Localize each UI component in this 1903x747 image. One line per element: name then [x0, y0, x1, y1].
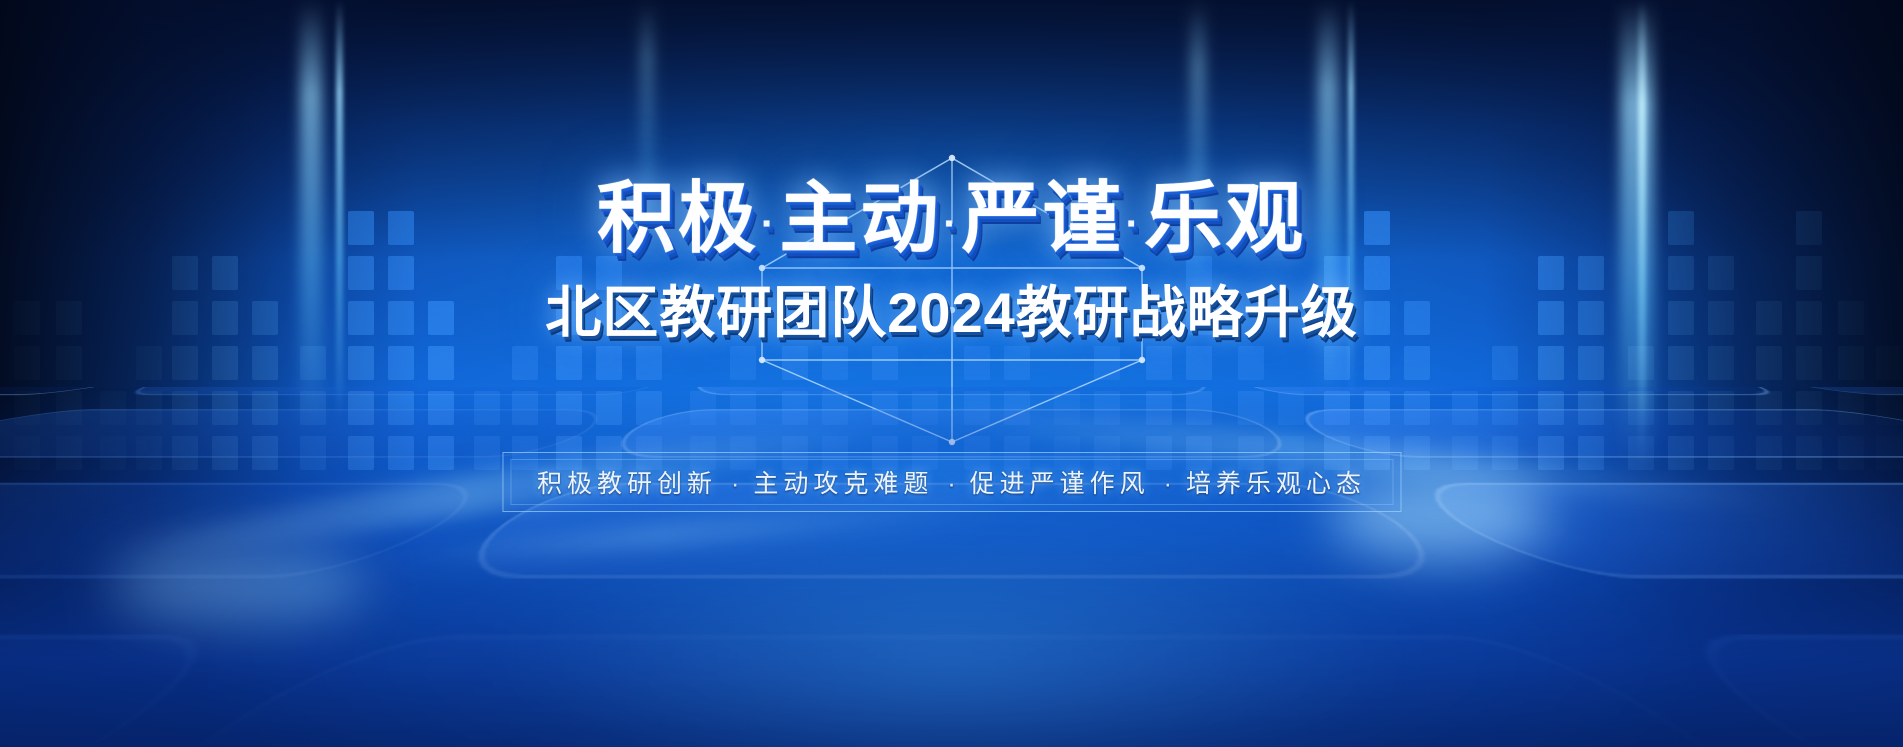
skyline-block	[136, 391, 162, 425]
left-edge-shade	[0, 0, 420, 747]
title-separator-1: ·	[761, 202, 777, 246]
skyline-block	[1492, 391, 1518, 425]
skyline-block	[172, 436, 198, 470]
skyline-block	[1238, 391, 1264, 425]
skyline-column	[100, 391, 126, 470]
tagline-frame: 积极教研创新·主动攻克难题·促进严谨作风·培养乐观心态	[502, 452, 1401, 512]
title-separator-2: ·	[943, 202, 959, 246]
title-word-3: 严谨	[962, 174, 1124, 262]
skyline-block	[872, 391, 898, 425]
skyline-block	[212, 346, 238, 380]
skyline-block	[1668, 436, 1694, 470]
skyline-block	[964, 346, 990, 380]
right-edge-shade	[1483, 0, 1903, 747]
skyline-block	[730, 346, 756, 380]
page-title: 积极·主动·严谨·乐观	[597, 176, 1306, 260]
perspective-tile-floor	[0, 387, 1903, 747]
tagline-item-4: 培养乐观心态	[1186, 470, 1366, 498]
skyline-block	[1004, 391, 1030, 425]
floor-tile	[101, 387, 689, 394]
skyline-block	[1628, 346, 1654, 380]
skyline-column	[1628, 346, 1654, 470]
tagline-item-3: 促进严谨作风	[970, 470, 1150, 498]
skyline-block	[1094, 391, 1120, 425]
skyline-block	[822, 391, 848, 425]
skyline-block	[1186, 391, 1212, 425]
skyline-block	[1278, 391, 1304, 425]
skyline-block	[252, 346, 278, 380]
skyline-block	[1324, 391, 1350, 425]
skyline-block	[428, 346, 454, 380]
skyline-block	[348, 391, 374, 425]
skyline-column	[474, 391, 500, 470]
skyline-block	[1796, 346, 1822, 380]
skyline-block	[1796, 391, 1822, 425]
skyline-block	[1492, 346, 1518, 380]
floor-tile	[0, 408, 622, 457]
glow-spot-left	[110, 545, 370, 625]
skyline-block	[1838, 346, 1864, 380]
skyline-block	[1838, 436, 1864, 470]
skyline-block	[1452, 391, 1478, 425]
skyline-column	[300, 346, 326, 470]
skyline-block	[1876, 436, 1902, 470]
tagline-item-2: 主动攻克难题	[753, 470, 933, 498]
skyline-block	[556, 391, 582, 425]
skyline-block	[1756, 391, 1782, 425]
skyline-block	[300, 391, 326, 425]
skyline-block	[252, 436, 278, 470]
skyline-column	[1492, 346, 1518, 470]
tagline-item-1: 积极教研创新	[537, 470, 717, 498]
skyline-block	[1492, 436, 1518, 470]
skyline-block	[1404, 391, 1430, 425]
floor-tile	[0, 482, 506, 578]
skyline-block	[1668, 346, 1694, 380]
skyline-block	[872, 346, 898, 380]
skyline-block	[1538, 436, 1564, 470]
skyline-block	[56, 391, 82, 425]
skyline-block	[1054, 391, 1080, 425]
tagline-bar: 积极教研创新·主动攻克难题·促进严谨作风·培养乐观心态	[502, 452, 1401, 512]
skyline-block	[1364, 346, 1390, 380]
floor-tile	[1396, 482, 1903, 578]
skyline-block	[388, 391, 414, 425]
skyline-block	[428, 391, 454, 425]
floor-tile	[680, 387, 1222, 394]
skyline-block	[1796, 436, 1822, 470]
skyline-block	[1578, 436, 1604, 470]
skyline-block	[1578, 391, 1604, 425]
skyline-block	[56, 436, 82, 470]
title-word-2: 主动	[779, 174, 941, 262]
skyline-block	[474, 391, 500, 425]
page-subtitle: 北区教研团队2024教研战略升级	[545, 268, 1358, 349]
floor-tile	[1214, 387, 1802, 394]
skyline-block	[56, 346, 82, 380]
skyline-block	[100, 436, 126, 470]
floor-tile	[0, 387, 197, 394]
skyline-block	[1364, 391, 1390, 425]
skyline-block	[1628, 436, 1654, 470]
skyline-column	[1452, 391, 1478, 470]
skyline-block	[1452, 436, 1478, 470]
skyline-block	[636, 391, 662, 425]
skyline-block	[212, 436, 238, 470]
skyline-block	[252, 391, 278, 425]
skyline-block	[1708, 391, 1734, 425]
skyline-block	[1876, 391, 1902, 425]
skyline-block	[136, 346, 162, 380]
floor-tile	[594, 408, 1309, 457]
skyline-block	[172, 391, 198, 425]
tagline-text: 积极教研创新·主动攻克难题·促进严谨作风·培养乐观心态	[537, 464, 1366, 500]
skyline-block	[636, 346, 662, 380]
skyline-column	[136, 346, 162, 470]
skyline-block	[1628, 391, 1654, 425]
skyline-block	[690, 391, 716, 425]
skyline-block	[964, 391, 990, 425]
skyline-block	[1756, 346, 1782, 380]
skyline-block	[474, 436, 500, 470]
skyline-block	[1578, 346, 1604, 380]
skyline-block	[1186, 346, 1212, 380]
skyline-block	[1404, 346, 1430, 380]
title-word-4: 乐观	[1144, 174, 1306, 262]
skyline-block	[556, 346, 582, 380]
tagline-separator-3: ·	[1164, 470, 1172, 498]
skyline-block	[1668, 391, 1694, 425]
promo-banner: 积极·主动·严谨·乐观 北区教研团队2024教研战略升级 积极教研创新·主动攻克…	[0, 0, 1903, 747]
skyline-block	[782, 346, 808, 380]
skyline-block	[212, 391, 238, 425]
skyline-block	[1146, 391, 1172, 425]
floor-tile	[1281, 408, 1903, 457]
skyline-block	[1146, 346, 1172, 380]
floor-tile	[1706, 387, 1903, 394]
skyline-block	[1708, 436, 1734, 470]
skyline-block	[300, 436, 326, 470]
skyline-block	[172, 346, 198, 380]
skyline-block	[428, 436, 454, 470]
skyline-block	[1538, 346, 1564, 380]
skyline-block	[1238, 346, 1264, 380]
skyline-block	[596, 346, 622, 380]
skyline-block	[14, 346, 40, 380]
skyline-block	[14, 391, 40, 425]
skyline-block	[822, 346, 848, 380]
skyline-block	[596, 391, 622, 425]
skyline-block	[1708, 346, 1734, 380]
skyline-block	[388, 436, 414, 470]
tagline-separator-2: ·	[947, 470, 955, 498]
skyline-block	[388, 346, 414, 380]
floor-tile	[1635, 634, 1903, 747]
title-word-1: 积极	[597, 174, 759, 262]
skyline-block	[100, 391, 126, 425]
skyline-block	[1838, 391, 1864, 425]
skyline-block	[912, 391, 938, 425]
skyline-block	[14, 436, 40, 470]
skyline-block	[348, 436, 374, 470]
title-separator-3: ·	[1126, 202, 1142, 246]
skyline-block	[348, 346, 374, 380]
floor-tile	[0, 634, 1903, 747]
skyline-block	[1756, 436, 1782, 470]
tagline-separator-1: ·	[731, 470, 739, 498]
skyline-block	[1004, 346, 1030, 380]
skyline-block	[782, 391, 808, 425]
floor-tile	[0, 408, 1, 457]
skyline-block	[512, 391, 538, 425]
floor-fade	[0, 387, 1903, 747]
skyline-block	[512, 346, 538, 380]
skyline-block	[730, 391, 756, 425]
skyline-block	[136, 436, 162, 470]
skyline-block	[1538, 391, 1564, 425]
headline-stack: 积极·主动·严谨·乐观 北区教研团队2024教研战略升级	[0, 176, 1903, 349]
skyline-block	[1404, 436, 1430, 470]
skyline-block	[1324, 346, 1350, 380]
skyline-block	[1876, 346, 1902, 380]
skyline-block	[300, 346, 326, 380]
skyline-column	[1876, 346, 1902, 470]
floor-tile	[0, 634, 268, 747]
skyline-block	[1094, 346, 1120, 380]
